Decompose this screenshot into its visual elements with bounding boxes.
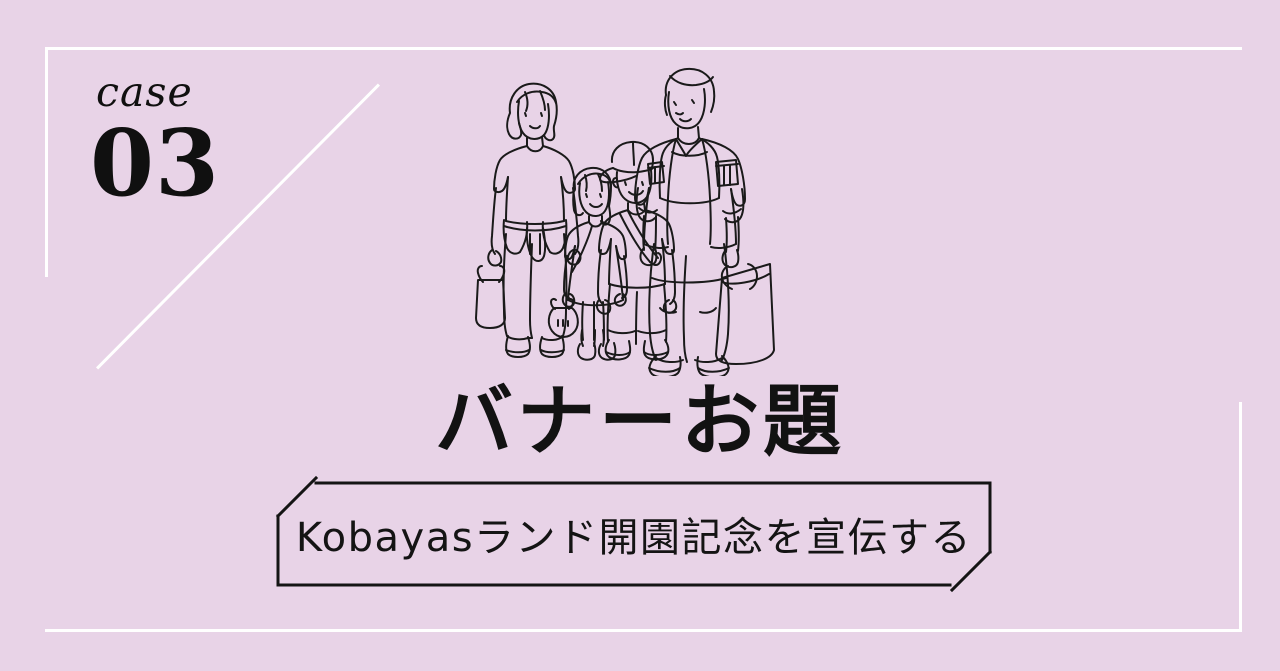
case-label-block: case 03 bbox=[90, 72, 270, 211]
case-number: 03 bbox=[90, 117, 270, 211]
figure-girl bbox=[549, 168, 627, 360]
subtitle-text: Kobayasランド開園記念を宣伝する bbox=[278, 483, 990, 585]
page-title: バナーお題 bbox=[0, 383, 1280, 461]
frame-bottom-line bbox=[45, 629, 1242, 632]
figure-father bbox=[635, 69, 774, 376]
subtitle-bracket: Kobayasランド開園記念を宣伝する bbox=[278, 470, 990, 598]
family-illustration bbox=[470, 58, 790, 376]
frame-top-line bbox=[45, 47, 1242, 50]
frame-left-line bbox=[45, 47, 48, 277]
figure-mother bbox=[476, 84, 580, 357]
banner-canvas: case 03 bbox=[0, 0, 1280, 671]
case-word: case bbox=[96, 72, 270, 113]
